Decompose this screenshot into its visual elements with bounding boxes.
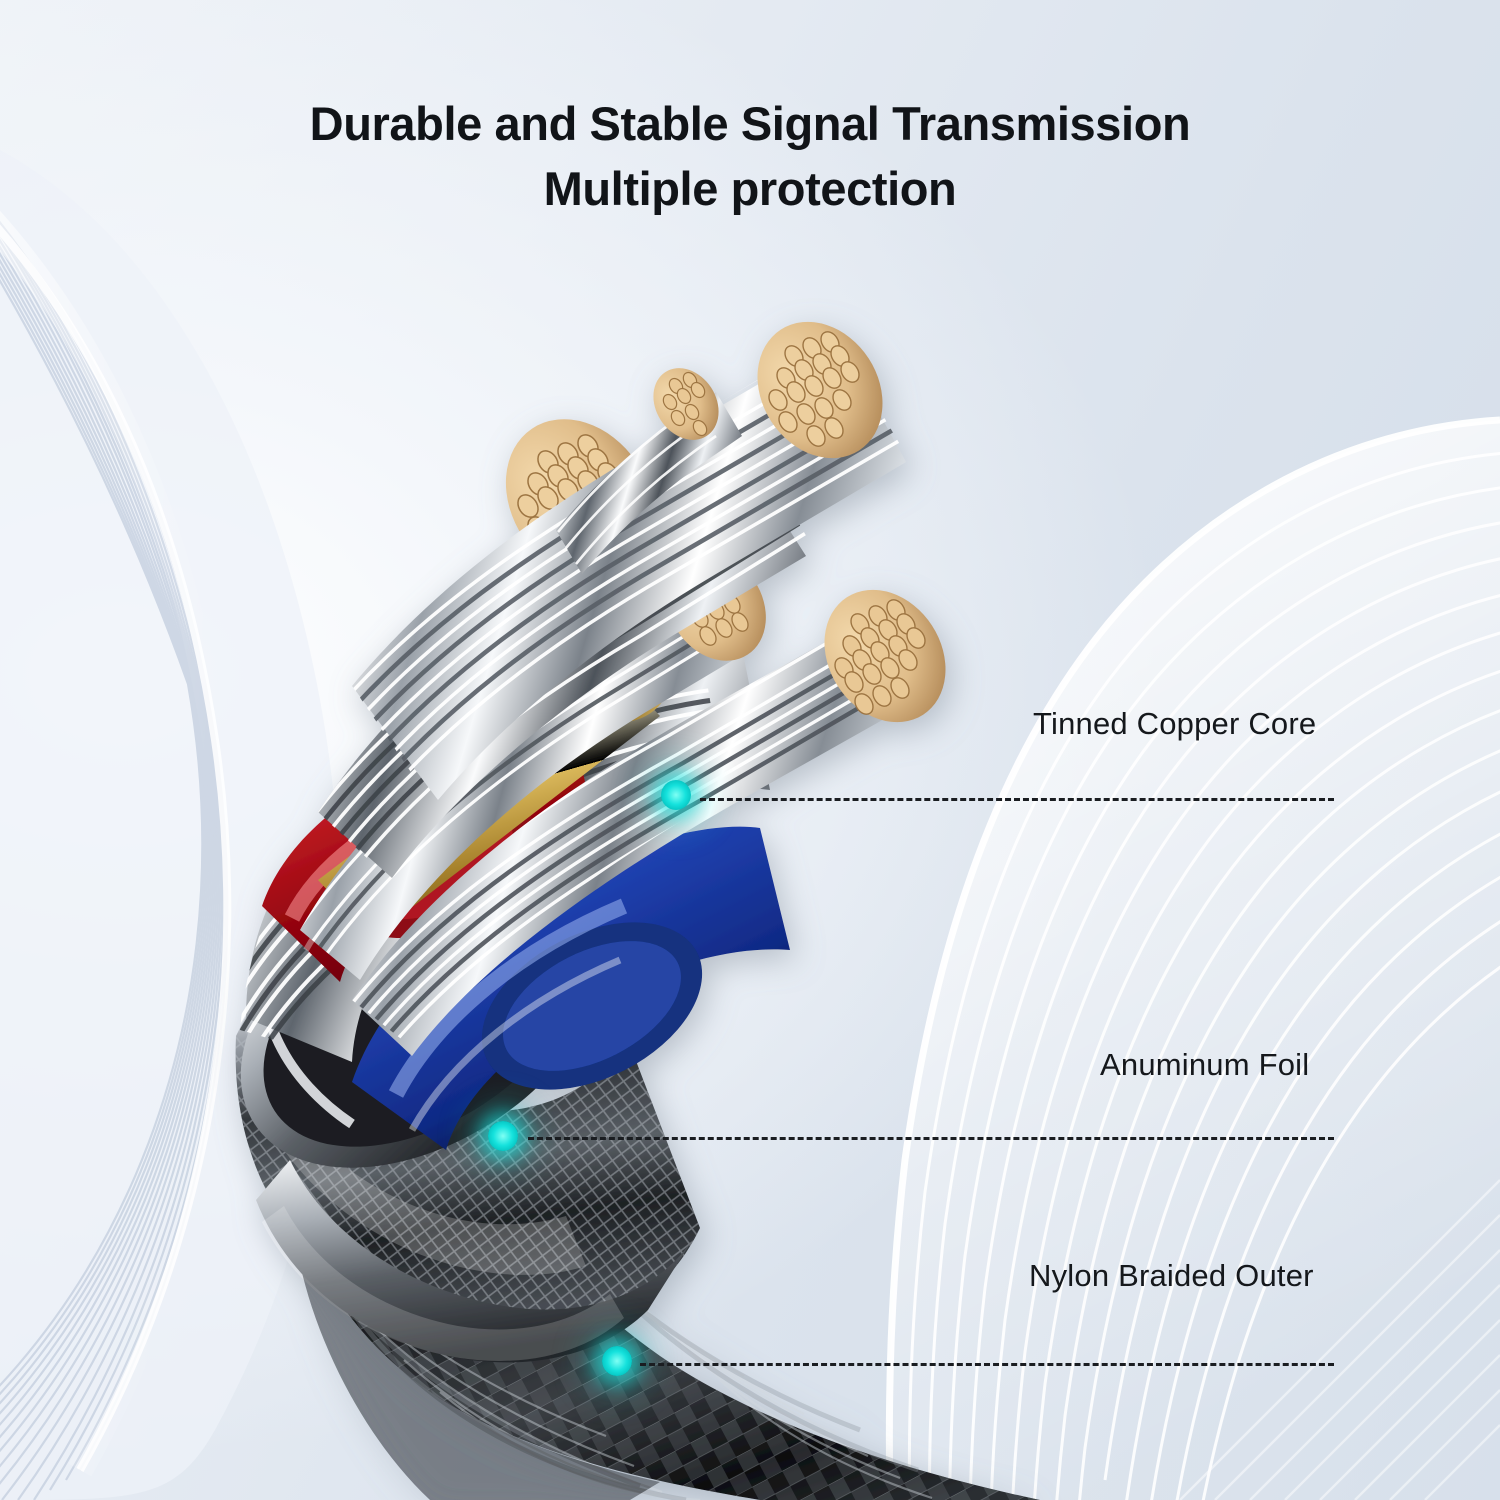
callout-label-tinned-copper-core: Tinned Copper Core: [1033, 706, 1316, 742]
callout-line-nylon-braided-outer: [640, 1363, 1334, 1366]
callout-label-anuminum-foil: Anuminum Foil: [1100, 1047, 1309, 1083]
infographic-canvas: Durable and Stable Signal Transmission M…: [0, 0, 1500, 1500]
callout-line-tinned-copper-core: [700, 798, 1334, 801]
marker-dot-nylon-braided-outer: [602, 1346, 632, 1376]
marker-dot-anuminum-foil: [488, 1121, 518, 1151]
callout-label-nylon-braided-outer: Nylon Braided Outer: [1029, 1258, 1314, 1294]
marker-dot-tinned-copper-core: [661, 780, 691, 810]
callout-line-anuminum-foil: [528, 1137, 1334, 1140]
